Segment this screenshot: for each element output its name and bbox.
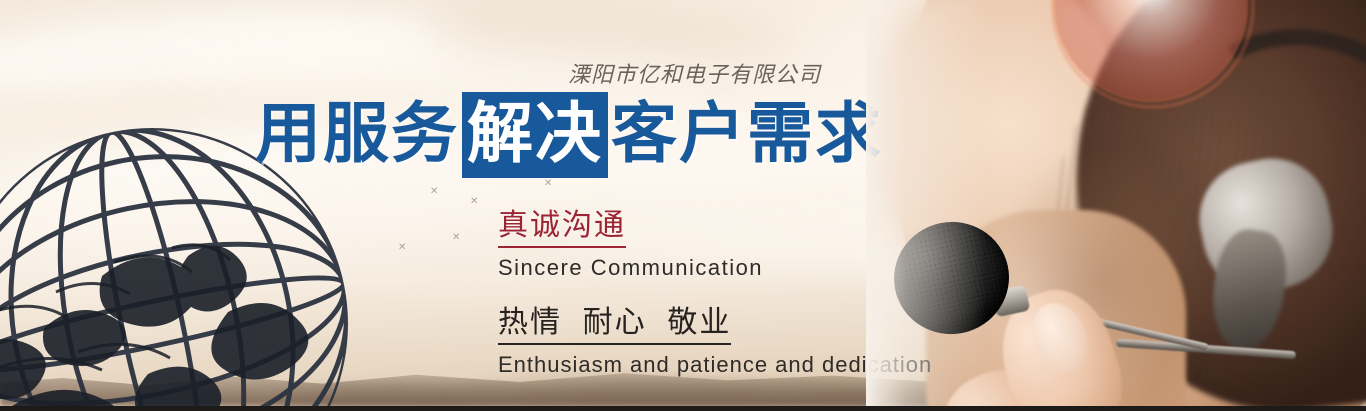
slogan-cn-1: 真诚沟通 <box>498 200 626 248</box>
company-name: 溧阳市亿和电子有限公司 <box>568 57 821 89</box>
photo-left-fade <box>866 0 1366 406</box>
headset-operator-photo <box>866 0 1366 406</box>
bottom-bar <box>0 406 1366 411</box>
headline-highlight: 解决 <box>462 92 608 178</box>
hero-banner: ✕ ✕ ✕ ✕ ✕ 溧阳市亿和电子有限公司 用服务解决客户需求 真诚沟通 Sin… <box>0 0 1366 411</box>
slogan-cn-2: 热情 耐心 敬业 <box>498 297 731 345</box>
headline: 用服务解决客户需求 <box>255 100 883 166</box>
headline-after: 客户需求 <box>611 96 883 170</box>
headline-before: 用服务 <box>255 96 459 170</box>
